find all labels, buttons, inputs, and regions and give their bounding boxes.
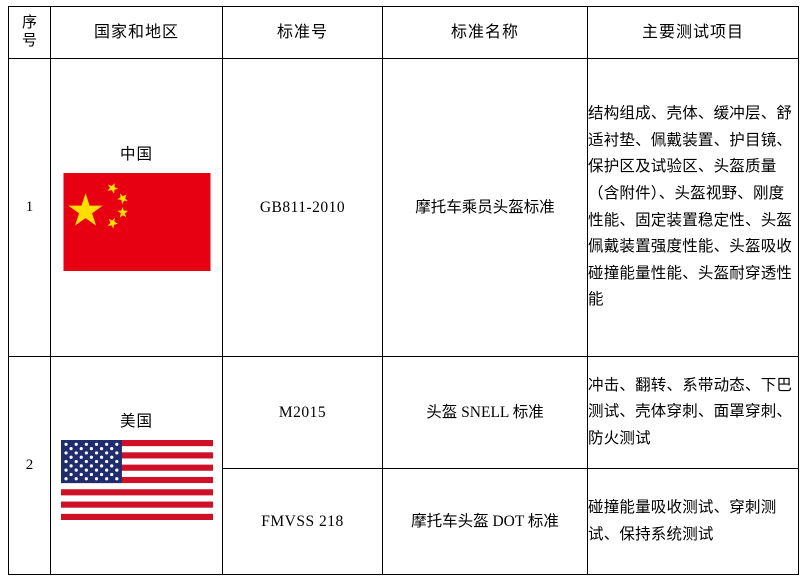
table-header-row: 序 号 国家和地区 标准号 标准名称 主要测试项目	[9, 7, 799, 59]
table-row: 1 中国	[9, 59, 799, 357]
country-cell-china: 中国	[51, 59, 223, 357]
standard-code-cell: FMVSS 218	[223, 469, 383, 575]
test-items-cell: 结构组成、壳体、缓冲层、舒适衬垫、佩戴装置、护目镜、保护区及试验区、头盔质量（含…	[588, 59, 799, 357]
country-wrapper: 中国	[51, 138, 222, 277]
test-items-cell: 碰撞能量吸收测试、穿刺测试、保持系统测试	[588, 469, 799, 575]
standard-code-cell: M2015	[223, 357, 383, 469]
country-label-china: 中国	[120, 144, 153, 166]
table-body: 1 中国	[9, 59, 799, 575]
standards-table: 序 号 国家和地区 标准号 标准名称 主要测试项目 1 中国	[8, 6, 799, 575]
standard-name-cell: 摩托车乘员头盔标准	[383, 59, 588, 357]
table-header: 序 号 国家和地区 标准号 标准名称 主要测试项目	[9, 7, 799, 59]
column-header-country: 国家和地区	[51, 7, 223, 59]
standard-name-cell: 摩托车头盔 DOT 标准	[383, 469, 588, 575]
country-label-usa: 美国	[120, 411, 153, 433]
row-index-china: 1	[9, 59, 51, 357]
country-cell-usa: 美国	[51, 357, 223, 575]
column-header-standard-code: 标准号	[223, 7, 383, 59]
china-flag-icon	[58, 173, 216, 271]
test-items-cell: 冲击、翻转、系带动态、下巴测试、壳体穿刺、面罩穿刺、防火测试	[588, 357, 799, 469]
column-header-test-items: 主要测试项目	[588, 7, 799, 59]
row-index-usa: 2	[9, 357, 51, 575]
usa-flag-icon	[59, 440, 215, 520]
country-wrapper: 美国	[51, 405, 222, 526]
column-header-index: 序 号	[9, 7, 51, 59]
column-header-index-line2: 号	[9, 33, 50, 50]
standard-code-cell: GB811-2010	[223, 59, 383, 357]
column-header-index-line1: 序	[9, 15, 50, 32]
table-row: 2 美国	[9, 357, 799, 469]
standard-name-cell: 头盔 SNELL 标准	[383, 357, 588, 469]
document-page: 序 号 国家和地区 标准号 标准名称 主要测试项目 1 中国	[0, 0, 808, 583]
column-header-standard-name: 标准名称	[383, 7, 588, 59]
